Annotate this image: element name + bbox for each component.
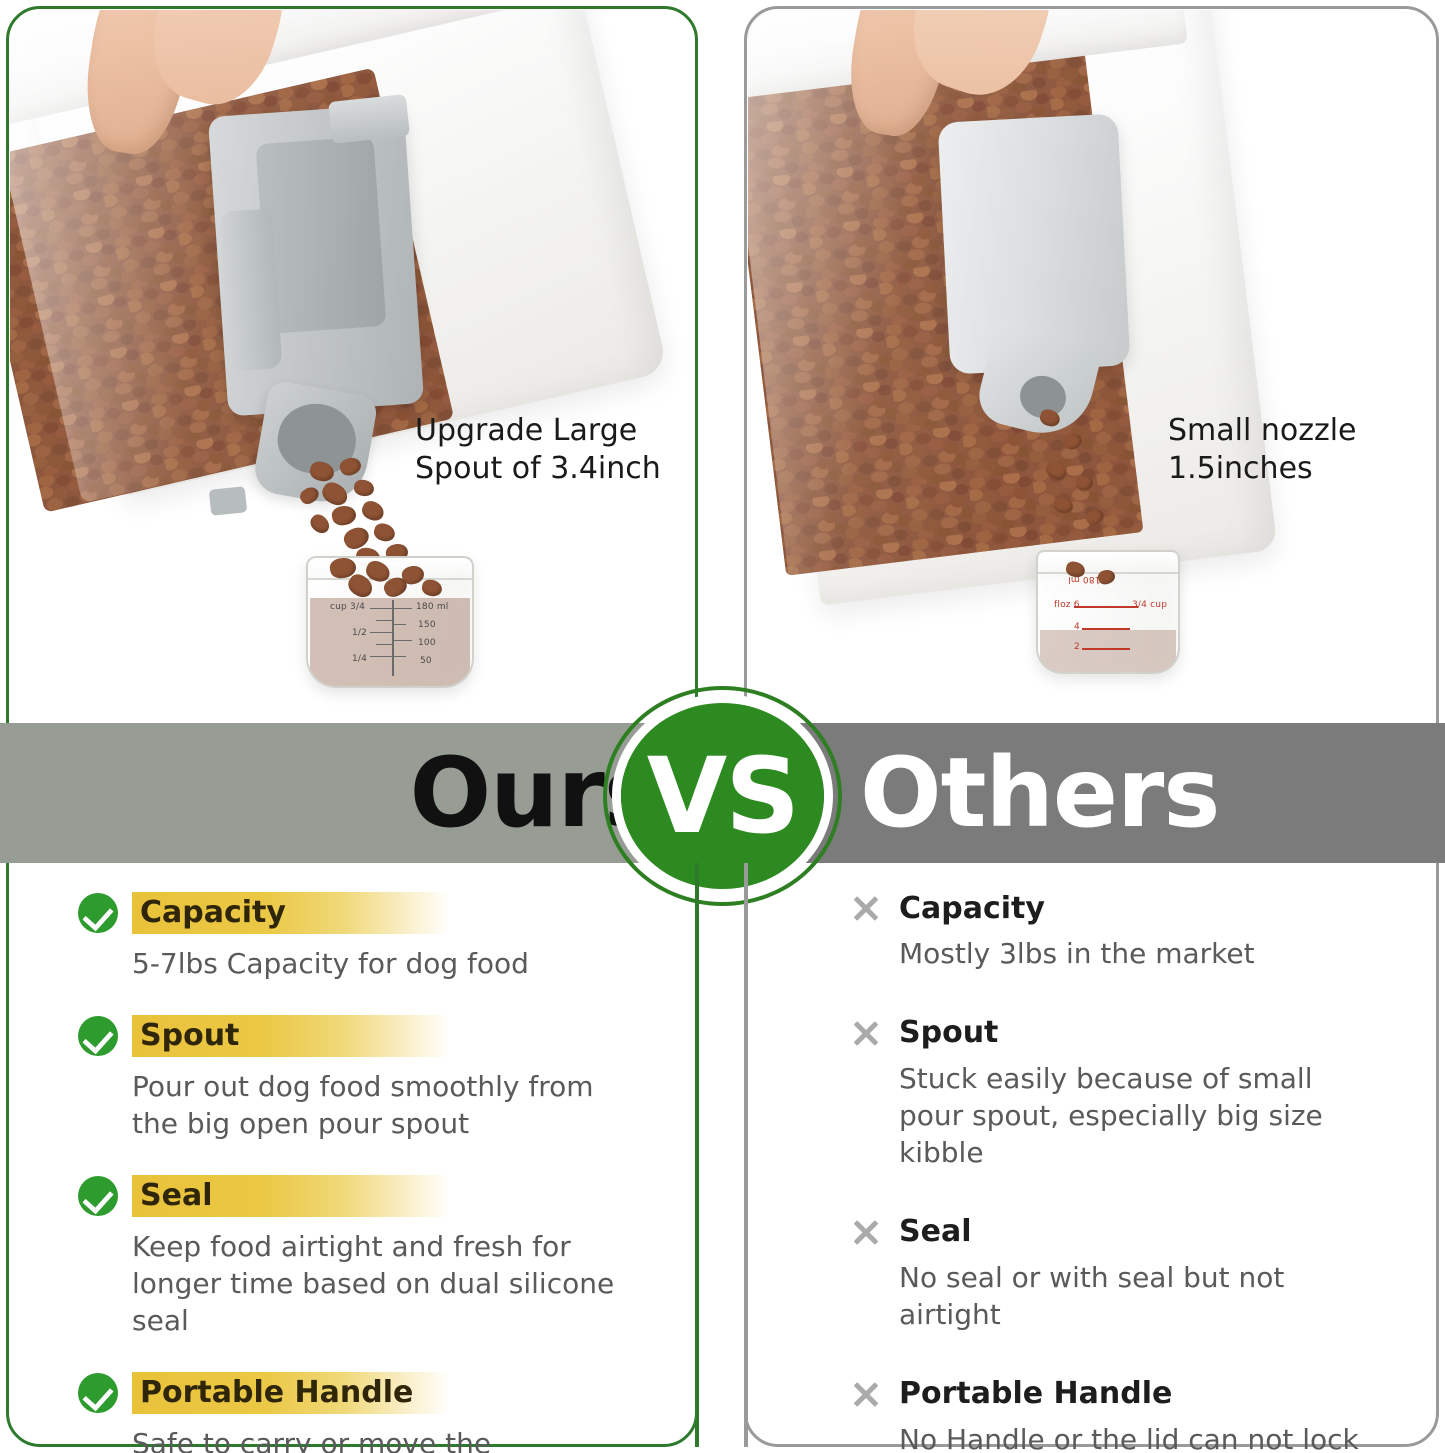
check-icon (78, 893, 118, 933)
others-feature-desc: No seal or with seal but not airtight (899, 1260, 1385, 1334)
others-title: Others (860, 723, 1445, 863)
product-comparison-infographic: cup 3/4 1/2 1/4 180 ml 150 100 50 Upgrad… (0, 0, 1445, 1453)
others-feature-title: Capacity (899, 892, 1045, 925)
check-icon (78, 1373, 118, 1413)
vs-label: VS (647, 744, 798, 848)
ours-feature-capacity: Capacity 5-7lbs Capacity for dog food (78, 892, 678, 983)
ours-feature-desc: Safe to carry or move the container with… (132, 1426, 632, 1453)
others-feature-list: Capacity Mostly 3lbs in the market Spout… (845, 888, 1385, 1453)
vs-badge: VS (603, 686, 842, 906)
check-icon (78, 1016, 118, 1056)
others-feature-title: Seal (899, 1215, 971, 1248)
ours-feature-title: Spout (132, 1015, 450, 1057)
x-icon (845, 1212, 885, 1252)
ours-feature-list: Capacity 5-7lbs Capacity for dog food Sp… (78, 892, 678, 1453)
x-icon (845, 1374, 885, 1414)
others-feature-seal: Seal No seal or with seal but not airtig… (845, 1212, 1385, 1334)
others-feature-title: Portable Handle (899, 1377, 1172, 1410)
x-icon (845, 888, 885, 928)
ours-feature-spout: Spout Pour out dog food smoothly from th… (78, 1015, 678, 1143)
others-feature-desc: Stuck easily because of small pour spout… (899, 1061, 1369, 1172)
others-feature-spout: Spout Stuck easily because of small pour… (845, 1013, 1385, 1172)
ours-feature-desc: Pour out dog food smoothly from the big … (132, 1069, 602, 1143)
ours-feature-portable-handle: Portable Handle Safe to carry or move th… (78, 1372, 678, 1453)
ours-title: Ours (0, 723, 660, 863)
ours-feature-title: Seal (132, 1175, 450, 1217)
others-panel-divider (744, 863, 748, 1447)
ours-panel-divider (695, 863, 699, 1447)
x-icon (845, 1013, 885, 1053)
others-feature-desc: No Handle or the lid can not lock the co… (899, 1422, 1385, 1453)
others-feature-title: Spout (899, 1016, 998, 1049)
check-icon (78, 1176, 118, 1216)
others-feature-desc: Mostly 3lbs in the market (899, 936, 1385, 973)
ours-feature-desc: 5-7lbs Capacity for dog food (132, 946, 678, 983)
ours-feature-desc: Keep food airtight and fresh for longer … (132, 1229, 652, 1340)
vs-circle: VS (621, 703, 824, 889)
ours-feature-title: Portable Handle (132, 1372, 450, 1414)
ours-feature-title: Capacity (132, 892, 450, 934)
others-feature-portable-handle: Portable Handle No Handle or the lid can… (845, 1374, 1385, 1453)
others-feature-capacity: Capacity Mostly 3lbs in the market (845, 888, 1385, 973)
ours-feature-seal: Seal Keep food airtight and fresh for lo… (78, 1175, 678, 1340)
